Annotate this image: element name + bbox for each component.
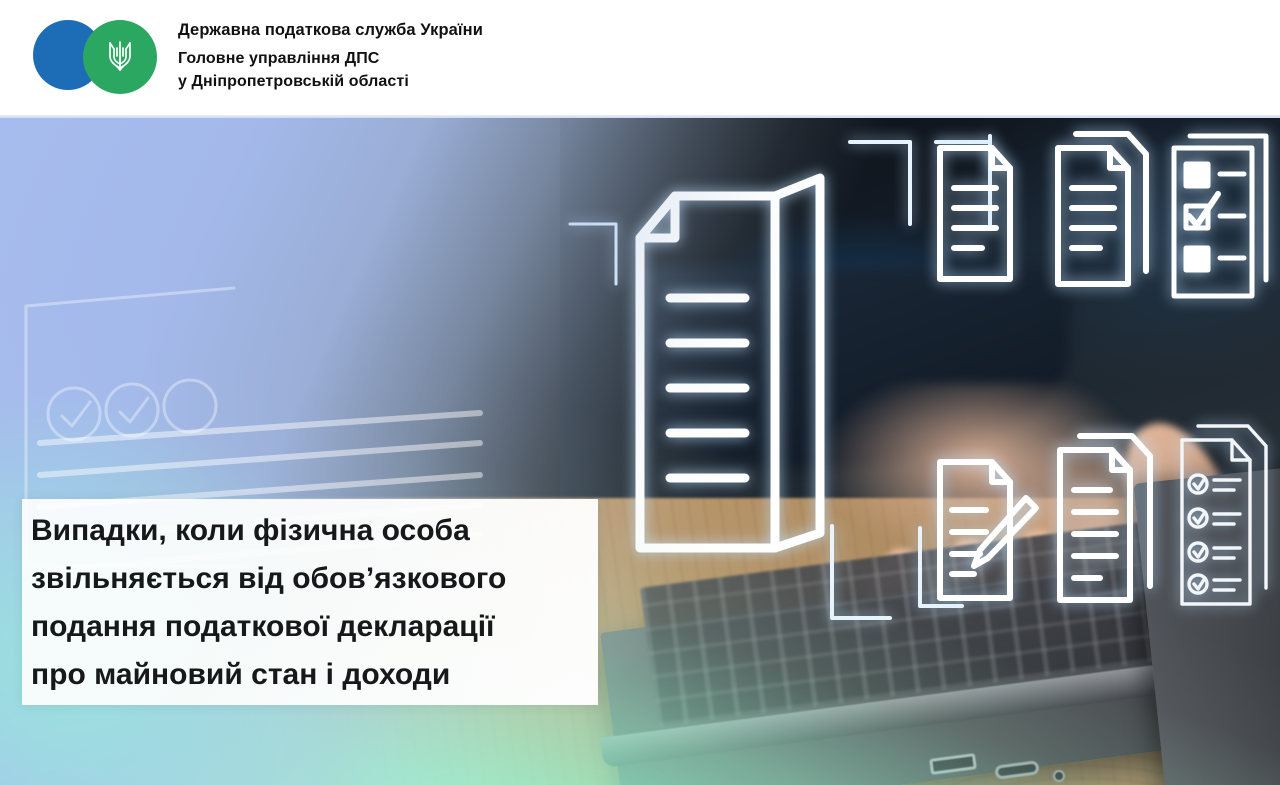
org-subtitle: Головне управління ДПС у Дніпропетровськ… <box>178 48 483 93</box>
ukraine-trident-icon <box>105 37 135 77</box>
page-title: Випадки, коли фізична особа звільняється… <box>31 507 591 699</box>
hero-banner: Випадки, коли фізична особа звільняється… <box>0 118 1280 785</box>
org-title: Державна податкова служба України <box>178 19 483 41</box>
organisation-text: Державна податкова служба України Головн… <box>178 19 483 93</box>
dps-logo[interactable] <box>33 20 173 94</box>
site-header: Державна податкова служба України Головн… <box>0 0 1280 118</box>
